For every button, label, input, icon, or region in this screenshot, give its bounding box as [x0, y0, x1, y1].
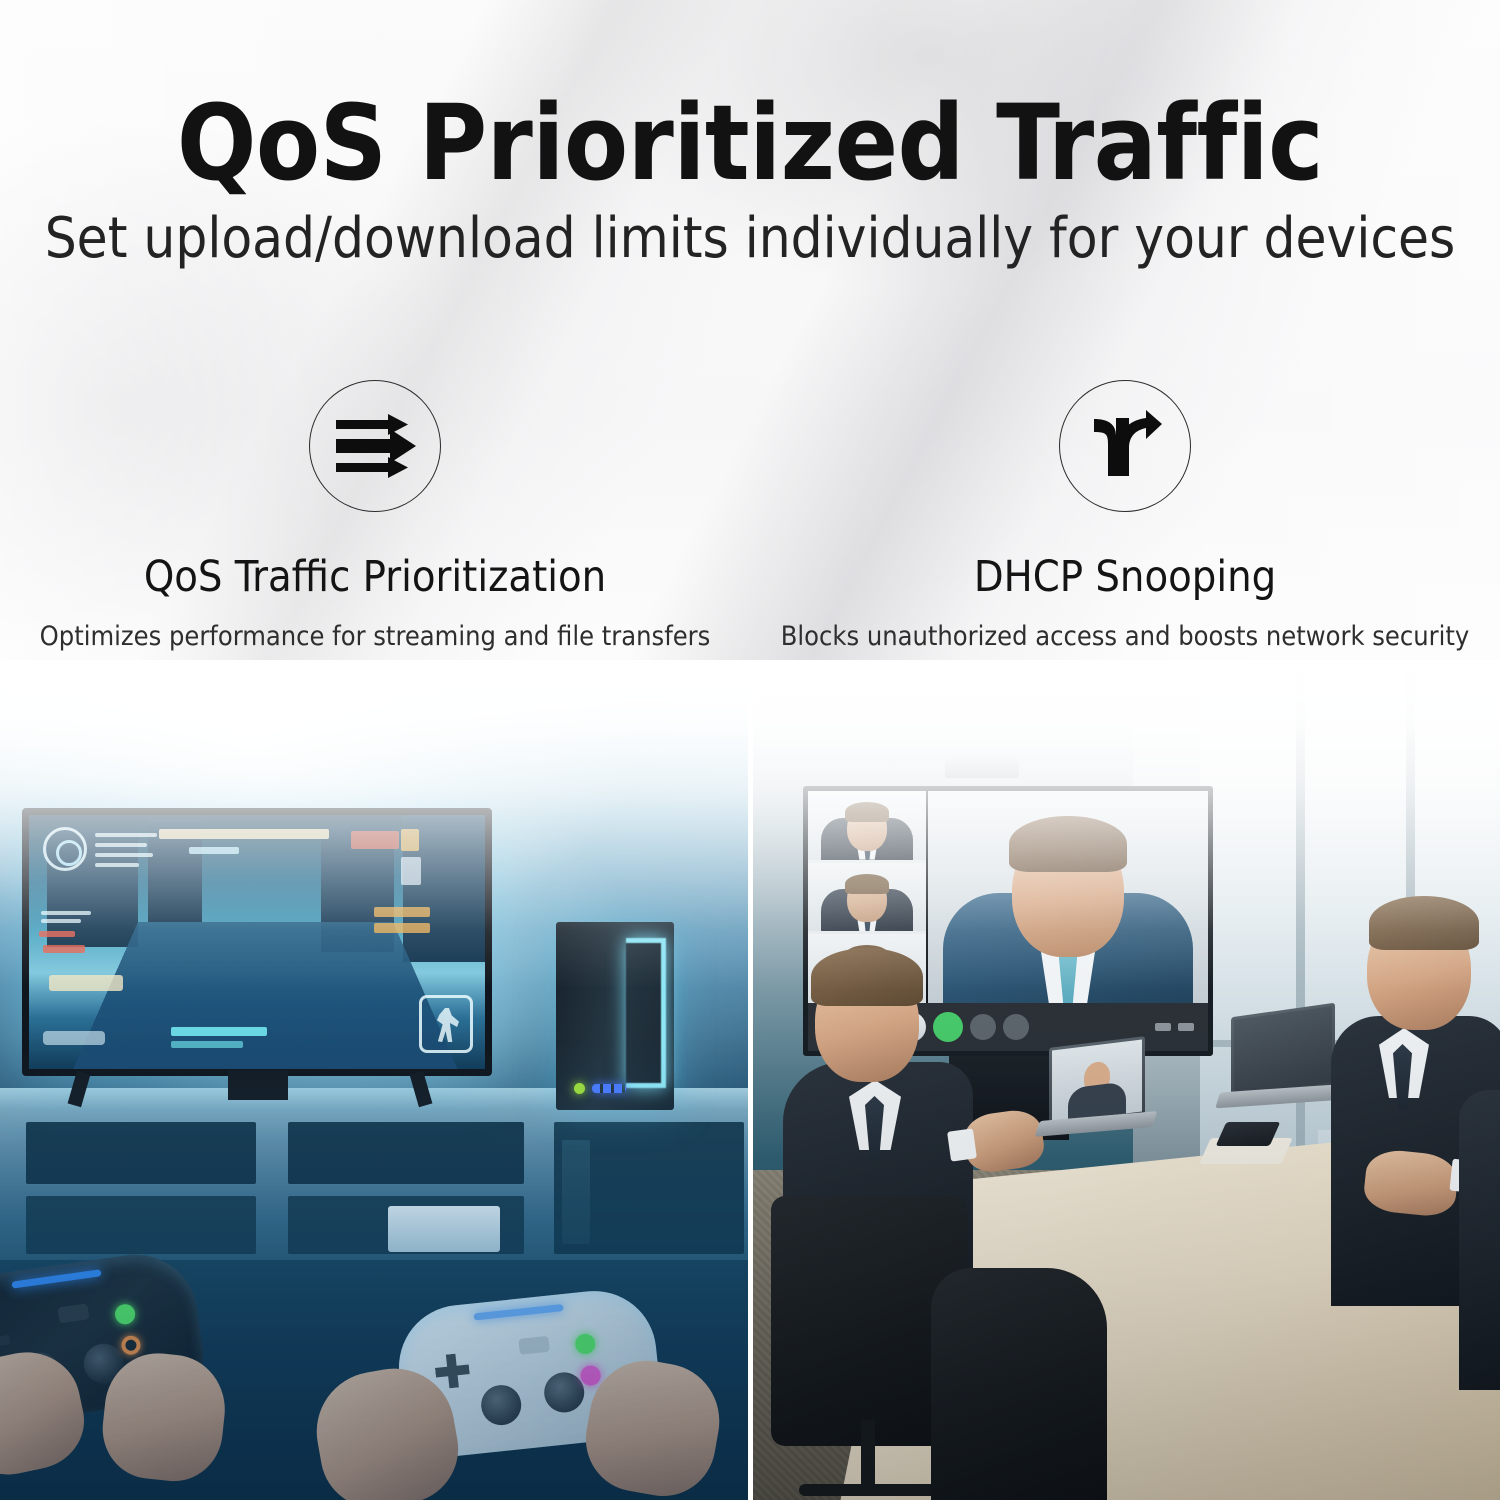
neon-light-strip	[626, 938, 666, 1088]
infographic-page: QoS Prioritized Traffic Set upload/downl…	[0, 0, 1500, 1500]
conference-room-photo	[753, 660, 1500, 1500]
game-hud-bar	[41, 911, 91, 915]
game-hud-bar	[95, 853, 153, 857]
page-subtitle: Set upload/download limits individually …	[0, 208, 1500, 271]
console-shelf	[26, 1196, 256, 1254]
gamepad-lightbar	[11, 1269, 101, 1288]
gamepad-touchpad	[518, 1336, 550, 1355]
gamepad-stick	[542, 1370, 586, 1414]
pc-tower	[556, 922, 674, 1110]
console-shelf	[26, 1122, 256, 1184]
page-title: QoS Prioritized Traffic	[0, 88, 1500, 198]
game-hud-label	[401, 857, 421, 885]
console-item-box	[388, 1206, 500, 1252]
game-hud-chip	[374, 923, 430, 933]
game-progress-bar	[171, 1041, 243, 1048]
game-progress-bar	[171, 1027, 267, 1036]
add-participant-icon[interactable]	[933, 1012, 963, 1042]
priority-arrows-icon	[309, 380, 441, 512]
game-hud-bar	[41, 919, 81, 923]
conference-camera-icon	[945, 756, 1019, 778]
game-hud-bar	[95, 863, 139, 867]
conference-room-scene	[753, 660, 1500, 1500]
game-hud-chip	[374, 907, 430, 917]
game-hud-banner	[159, 829, 329, 839]
thumb-hair	[845, 802, 889, 822]
participant-hair	[811, 948, 923, 1006]
tv-screen	[29, 815, 485, 1069]
thumb-hair	[845, 874, 889, 894]
game-character-icon	[419, 995, 473, 1053]
microphone-icon[interactable]	[970, 1014, 996, 1040]
console-item-book	[562, 1140, 590, 1244]
gamepad-dpad-icon	[434, 1352, 471, 1389]
laptop-screen	[1234, 1006, 1332, 1096]
power-led-icon	[574, 1083, 585, 1094]
gamepad-touchpad	[57, 1303, 89, 1323]
game-health-bar	[39, 931, 75, 937]
game-hud-bar	[95, 843, 147, 847]
active-speaker-video	[928, 791, 1208, 1003]
feature-description: Optimizes performance for streaming and …	[40, 621, 711, 652]
media-console	[0, 1088, 748, 1280]
gaming-room-scene	[0, 660, 748, 1500]
photo-strip	[0, 660, 1500, 1500]
game-hud-label	[401, 829, 419, 851]
gamepad-button-triangle-icon	[574, 1333, 596, 1355]
participant-far-right	[1459, 1090, 1500, 1390]
gamepad-button-triangle-icon	[114, 1303, 137, 1326]
game-minimap-icon	[43, 827, 87, 871]
fullscreen-icon[interactable]	[1178, 1023, 1194, 1031]
tv-stand-center	[228, 1070, 288, 1100]
branching-arrow-icon	[1059, 380, 1191, 512]
game-item-slot	[49, 975, 123, 991]
gamepad-stick	[479, 1383, 523, 1427]
activity-led-icon	[592, 1084, 626, 1093]
gaming-tv	[22, 808, 492, 1076]
game-hud-banner	[189, 847, 239, 854]
gamepad-button-square-icon	[580, 1365, 602, 1387]
participant-thumbnail	[808, 863, 926, 932]
participant-hair	[1369, 896, 1479, 950]
feature-row: QoS Traffic Prioritization Optimizes per…	[0, 380, 1500, 652]
feature-title: QoS Traffic Prioritization	[144, 554, 606, 601]
feature-description: Blocks unauthorized access and boosts ne…	[781, 621, 1470, 652]
gamepad-button-circle-icon	[120, 1334, 141, 1355]
game-hud-bar	[95, 833, 157, 837]
gamepad-lightbar	[473, 1304, 563, 1320]
console-shelf	[288, 1122, 524, 1184]
game-hud-label	[351, 831, 399, 849]
shirt-cuff	[947, 1128, 977, 1161]
laptop-screen	[1052, 1039, 1142, 1122]
layout-view-icon[interactable]	[1155, 1023, 1171, 1031]
feature-dhcp-snooping: DHCP Snooping Blocks unauthorized access…	[750, 380, 1500, 652]
feature-qos-traffic-prioritization: QoS Traffic Prioritization Optimizes per…	[0, 380, 750, 652]
gaming-room-photo	[0, 660, 748, 1500]
tablet-device	[1216, 1122, 1281, 1146]
camera-icon[interactable]	[1003, 1014, 1029, 1040]
participant-thumbnail	[808, 791, 926, 860]
office-chair	[931, 1268, 1107, 1500]
game-hud-button	[43, 1031, 105, 1045]
game-health-bar	[43, 945, 85, 953]
chair-post	[861, 1420, 875, 1492]
speaker-hair	[1009, 816, 1127, 872]
feature-title: DHCP Snooping	[974, 554, 1276, 601]
title-block: QoS Prioritized Traffic Set upload/downl…	[0, 88, 1500, 271]
